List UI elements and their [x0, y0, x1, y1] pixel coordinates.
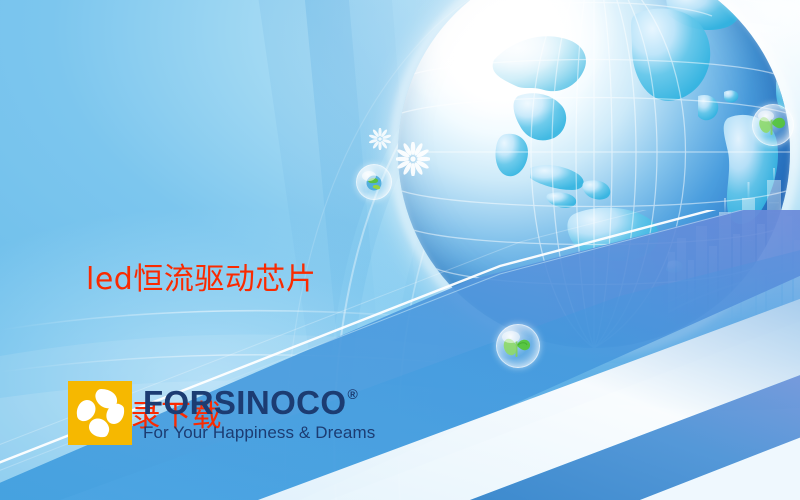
logo-text-block: FORSINOCO ® For Your Happiness & Dreams	[143, 386, 375, 441]
page-title: led恒流驱动芯片 目录下载	[86, 166, 316, 500]
logo-wordmark: FORSINOCO ®	[143, 386, 375, 419]
company-logo[interactable]: FORSINOCO ® For Your Happiness & Dreams	[68, 381, 375, 445]
headline-line-1: led恒流驱动芯片	[86, 257, 316, 303]
bubble-globe	[356, 164, 392, 200]
logo-brand-name: FORSINOCO	[143, 386, 346, 419]
sparkle-flower-small	[369, 128, 391, 150]
sparkle-flower-large	[396, 142, 430, 176]
banner-canvas: led恒流驱动芯片 目录下载 FORSINOCO ® For Your Happ…	[0, 0, 800, 500]
bubble-leaf	[752, 104, 794, 146]
registered-trademark-icon: ®	[347, 387, 358, 401]
bubble-sprout	[496, 324, 540, 368]
logo-tagline: For Your Happiness & Dreams	[143, 424, 375, 441]
forsinoco-pinwheel-icon	[68, 381, 132, 445]
